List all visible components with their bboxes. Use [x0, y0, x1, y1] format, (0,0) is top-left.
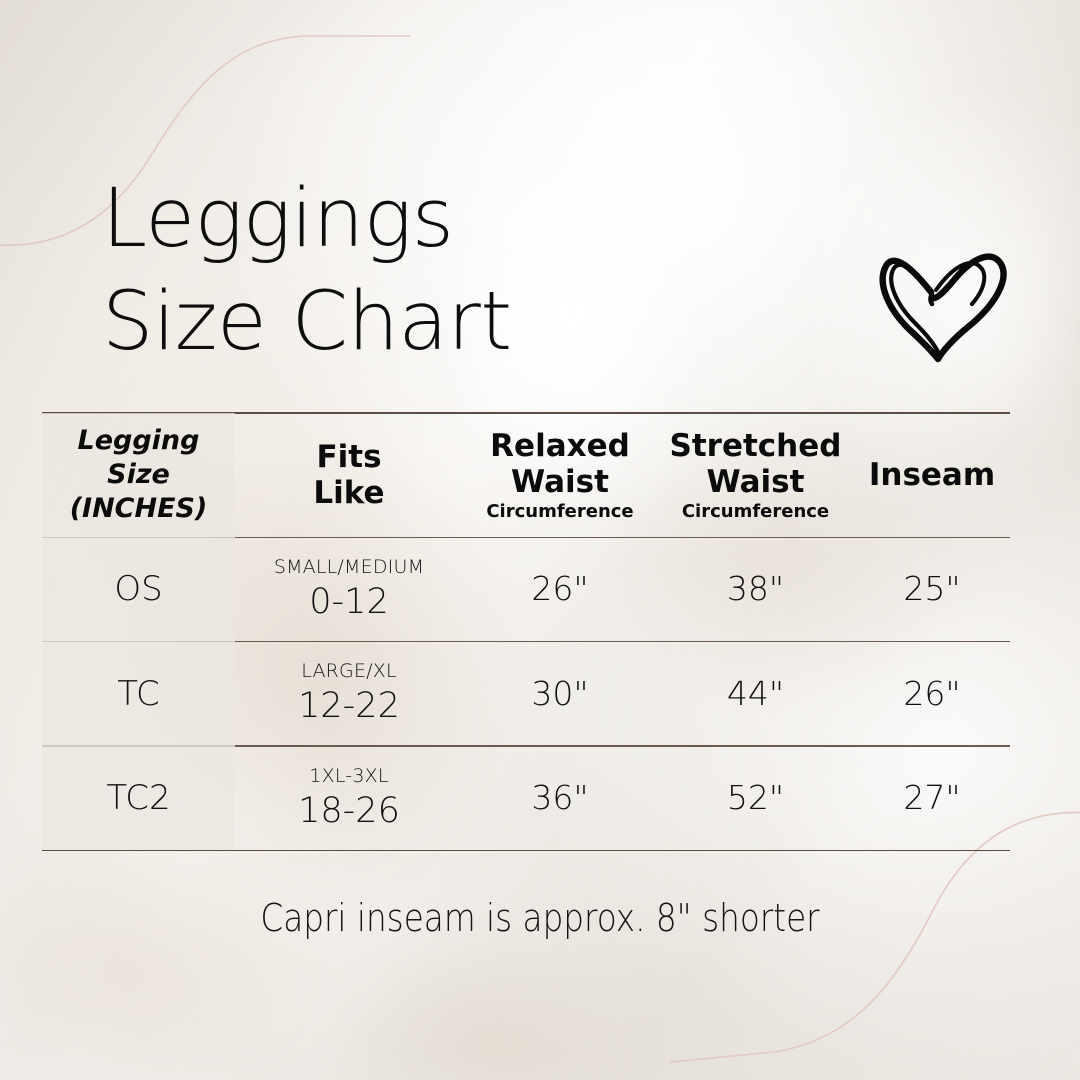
- header-stretched-waist-sub: Circumference: [682, 501, 829, 523]
- size-label: TC: [117, 674, 160, 714]
- cell-size: TC2: [42, 747, 235, 850]
- cell-relaxed-waist: 30": [463, 642, 657, 745]
- header-cell-stretched-waist: Stretched Waist Circumference: [657, 414, 854, 537]
- header-stretched-waist-line1: Stretched: [670, 428, 842, 464]
- cell-relaxed-waist: 36": [463, 747, 657, 850]
- header-cell-relaxed-waist: Relaxed Waist Circumference: [463, 414, 657, 537]
- page-title: Leggings Size Chart: [102, 168, 802, 374]
- cell-fits-like: LARGE/XL 12-22: [235, 642, 463, 745]
- footer-note: Capri inseam is approx. 8" shorter: [76, 895, 1005, 941]
- cell-stretched-waist: 52": [657, 747, 854, 850]
- table-row: OS SMALL/MEDIUM 0-12 26" 38" 25": [42, 538, 1010, 641]
- size-label: OS: [114, 569, 162, 609]
- header-cell-fits-like: Fits Like: [235, 414, 463, 537]
- header-fits-like-line1: Fits: [316, 439, 381, 475]
- cell-inseam: 27": [854, 747, 1010, 850]
- table-row: TC2 1XL-3XL 18-26 36" 52" 27": [42, 747, 1010, 850]
- cell-fits-like: 1XL-3XL 18-26: [235, 747, 463, 850]
- header-cell-inseam: Inseam: [854, 414, 1010, 537]
- size-label: TC2: [106, 778, 170, 818]
- table-row: TC LARGE/XL 12-22 30" 44" 26": [42, 642, 1010, 745]
- fits-like-label: LARGE/XL: [301, 660, 397, 683]
- fits-like-range: 18-26: [298, 790, 400, 832]
- relaxed-waist-value: 36": [531, 779, 588, 817]
- cell-stretched-waist: 44": [657, 642, 854, 745]
- size-chart-table: Legging Size (INCHES) Fits Like Relaxed …: [42, 412, 1010, 851]
- inseam-value: 27": [903, 779, 960, 817]
- header-legging-size-line1: Legging Size: [42, 424, 235, 492]
- cell-size: TC: [42, 642, 235, 745]
- heart-doodle-icon: [868, 228, 1028, 368]
- cell-stretched-waist: 38": [657, 538, 854, 641]
- stretched-waist-value: 44": [727, 675, 784, 713]
- inseam-value: 26": [903, 675, 960, 713]
- header-relaxed-waist-sub: Circumference: [486, 501, 633, 523]
- relaxed-waist-value: 30": [531, 675, 588, 713]
- fits-like-range: 12-22: [298, 685, 400, 727]
- page-title-line-1: Leggings: [102, 168, 802, 271]
- fits-like-range: 0-12: [309, 581, 388, 623]
- fits-like-label: 1XL-3XL: [309, 765, 388, 788]
- header-inseam-label: Inseam: [869, 457, 995, 493]
- table-bottom-rule: [42, 850, 1010, 852]
- cell-inseam: 26": [854, 642, 1010, 745]
- header-legging-size-line2: (INCHES): [70, 492, 208, 526]
- header-stretched-waist-line2: Waist: [707, 464, 805, 500]
- relaxed-waist-value: 26": [531, 570, 588, 608]
- cell-size: OS: [42, 538, 235, 641]
- header-relaxed-waist-line1: Relaxed: [490, 428, 630, 464]
- inseam-value: 25": [903, 570, 960, 608]
- header-relaxed-waist-line2: Waist: [511, 464, 609, 500]
- fits-like-label: SMALL/MEDIUM: [274, 556, 424, 579]
- header-cell-legging-size: Legging Size (INCHES): [42, 414, 235, 537]
- stretched-waist-value: 52": [727, 779, 784, 817]
- cell-fits-like: SMALL/MEDIUM 0-12: [235, 538, 463, 641]
- header-fits-like-line2: Like: [313, 475, 384, 511]
- stretched-waist-value: 38": [727, 570, 784, 608]
- size-chart-canvas: Leggings Size Chart Legging Size (INCHES…: [0, 0, 1080, 1080]
- page-title-line-2: Size Chart: [102, 271, 802, 374]
- table-header-row: Legging Size (INCHES) Fits Like Relaxed …: [42, 414, 1010, 537]
- cell-inseam: 25": [854, 538, 1010, 641]
- cell-relaxed-waist: 26": [463, 538, 657, 641]
